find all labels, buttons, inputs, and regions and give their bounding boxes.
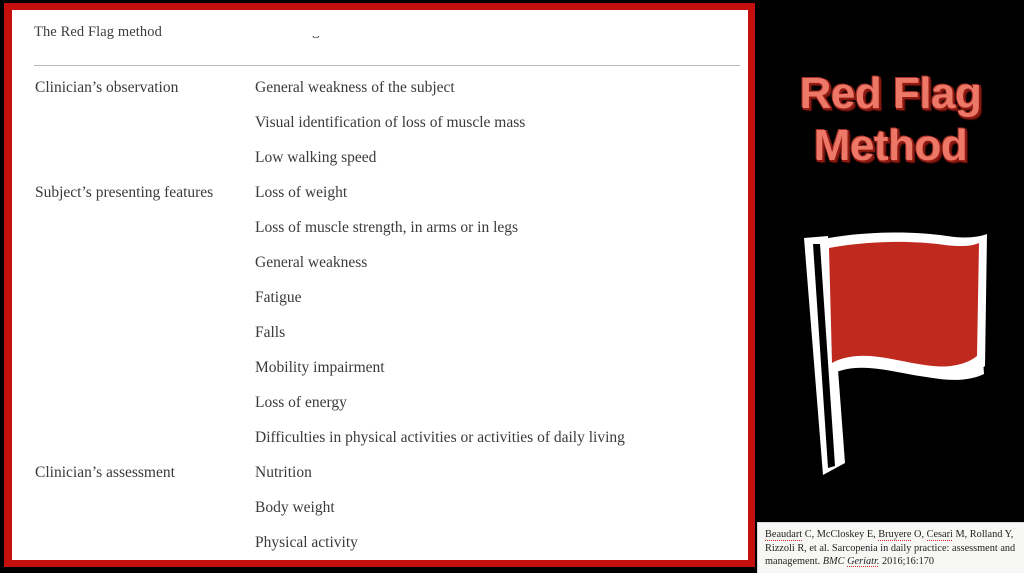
table-row: Clinician’s observation General weakness… (12, 70, 748, 105)
table-cell-category (12, 140, 252, 175)
table-cell-item: Body weight (252, 490, 748, 525)
table-cell-item: Difficulties in physical activities or a… (252, 420, 748, 455)
table-row: Low walking speed (12, 140, 748, 175)
table-cell-item: Fatigue (252, 280, 748, 315)
slide-canvas: The Red Flag method g Clinician’s observ… (0, 0, 1024, 573)
table-cell-item: Physical activity (252, 525, 748, 560)
table-row: Loss of energy (12, 385, 748, 420)
heading-line-2: Method (757, 120, 1024, 172)
table-cell-category (12, 420, 252, 455)
table-cell-item: Mobility impairment (252, 350, 748, 385)
table-cell-category (12, 350, 252, 385)
table-cell-category: Subject’s presenting features (12, 175, 252, 210)
citation-authors-part-1: C, McCloskey E, (802, 529, 878, 540)
red-flag-icon (787, 228, 997, 488)
red-flag-table: Clinician’s observation General weakness… (12, 70, 748, 560)
citation-volume-pages: 2016;16:170 (879, 556, 934, 567)
table-cell-category (12, 315, 252, 350)
table-cell-item: General weakness of the subject (252, 70, 748, 105)
table-cell-category: Clinician’s observation (12, 70, 252, 105)
table-cell-item: Low walking speed (252, 140, 748, 175)
table-cell-item: Loss of weight (252, 175, 748, 210)
page-title: The Red Flag method (34, 24, 162, 41)
table-cell-category (12, 245, 252, 280)
table-row: Falls (12, 315, 748, 350)
table-cell-category (12, 105, 252, 140)
table-row: Clinician’s assessment Nutrition (12, 455, 748, 490)
table-row: Fatigue (12, 280, 748, 315)
table-cell-category (12, 210, 252, 245)
citation-journal-2: Geriatr. (847, 556, 879, 568)
table-row: Loss of muscle strength, in arms or in l… (12, 210, 748, 245)
table-row: Subject’s presenting features Loss of we… (12, 175, 748, 210)
table-cell-item: Falls (252, 315, 748, 350)
citation-journal-1: BMC (823, 556, 845, 567)
table-row: Visual identification of loss of muscle … (12, 105, 748, 140)
table-body: Clinician’s observation General weakness… (12, 70, 748, 560)
table-cell-item: Visual identification of loss of muscle … (252, 105, 748, 140)
citation-reference: Beaudart C, McCloskey E, Bruyere O, Cesa… (757, 522, 1024, 573)
table-cell-category (12, 385, 252, 420)
table-row: Physical activity (12, 525, 748, 560)
citation-author-misspelled-3: Cesari (927, 529, 953, 541)
table-cell-category: Clinician’s assessment (12, 455, 252, 490)
table-cell-item: Nutrition (252, 455, 748, 490)
table-cell-category (12, 280, 252, 315)
citation-author-misspelled-1: Beaudart (765, 529, 802, 541)
heading-line-1: Red Flag (757, 68, 1024, 120)
table-cell-item: Loss of muscle strength, in arms or in l… (252, 210, 748, 245)
table-cell-category (12, 525, 252, 560)
table-cell-category (12, 490, 252, 525)
clipped-header-remnant: g (312, 36, 432, 58)
table-row: Body weight (12, 490, 748, 525)
red-flag-method-heading: Red Flag Method (757, 68, 1024, 172)
table-top-rule (34, 65, 740, 66)
table-row: Difficulties in physical activities or a… (12, 420, 748, 455)
table-red-frame: The Red Flag method g Clinician’s observ… (4, 3, 755, 567)
table-cell-item: Loss of energy (252, 385, 748, 420)
citation-authors-part-2: O, (911, 529, 926, 540)
table-cell-item: General weakness (252, 245, 748, 280)
citation-author-misspelled-2: Bruyere (878, 529, 911, 541)
table-row: Mobility impairment (12, 350, 748, 385)
table-row: General weakness (12, 245, 748, 280)
clipped-header-text: g (312, 36, 320, 40)
right-black-panel: Red Flag Method Beaudart C, McCloskey E,… (757, 0, 1024, 573)
table-white-panel: The Red Flag method g Clinician’s observ… (12, 10, 748, 560)
